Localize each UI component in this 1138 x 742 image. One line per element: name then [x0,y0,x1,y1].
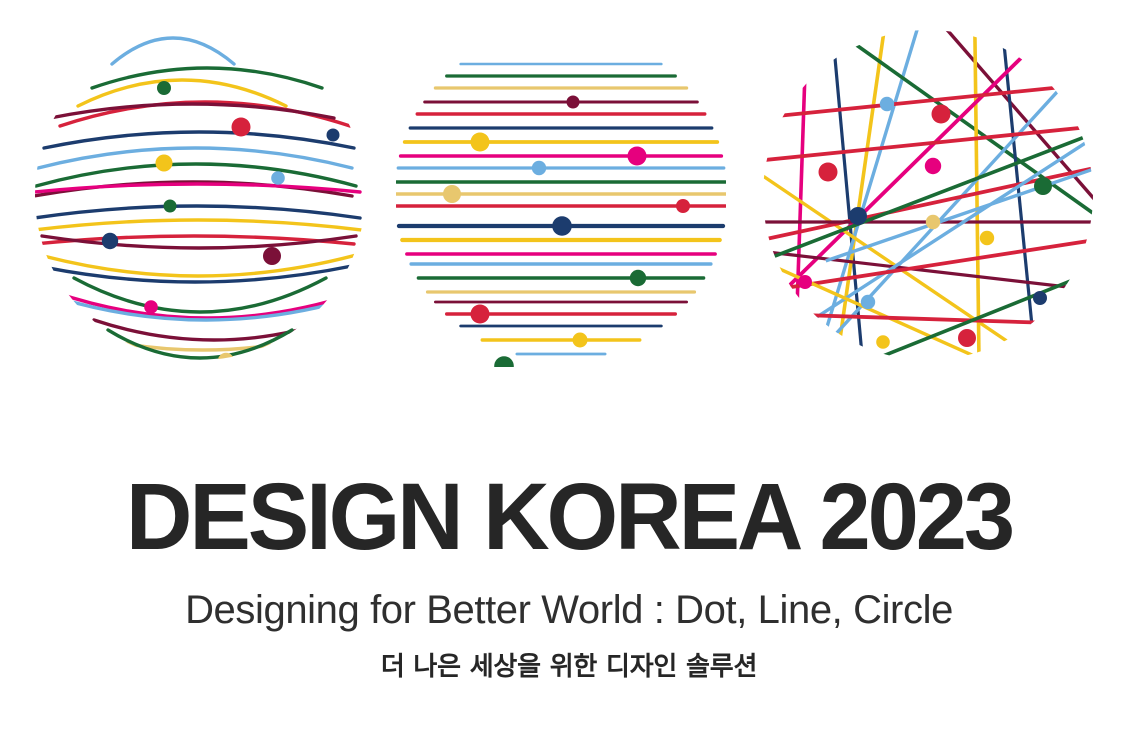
page-title: DESIGN KOREA 2023 [17,470,1121,565]
subtitle-korean: 더 나은 세상을 위한 디자인 솔루션 [0,631,1138,682]
title-block: DESIGN KOREA 2023 Designing for Better W… [0,470,1138,682]
logo-mark-crosshatch [758,22,1098,372]
logo-mark-horizontal-lines [396,22,726,372]
poster-canvas: DESIGN KOREA 2023 Designing for Better W… [0,0,1138,742]
logo-row [0,0,1138,400]
crosshatch-svg [758,22,1098,367]
logo-mark-curves [34,22,364,372]
curves-svg [34,22,364,367]
subtitle-english: Designing for Better World : Dot, Line, … [0,565,1138,631]
horizontal-lines-svg [396,22,726,367]
